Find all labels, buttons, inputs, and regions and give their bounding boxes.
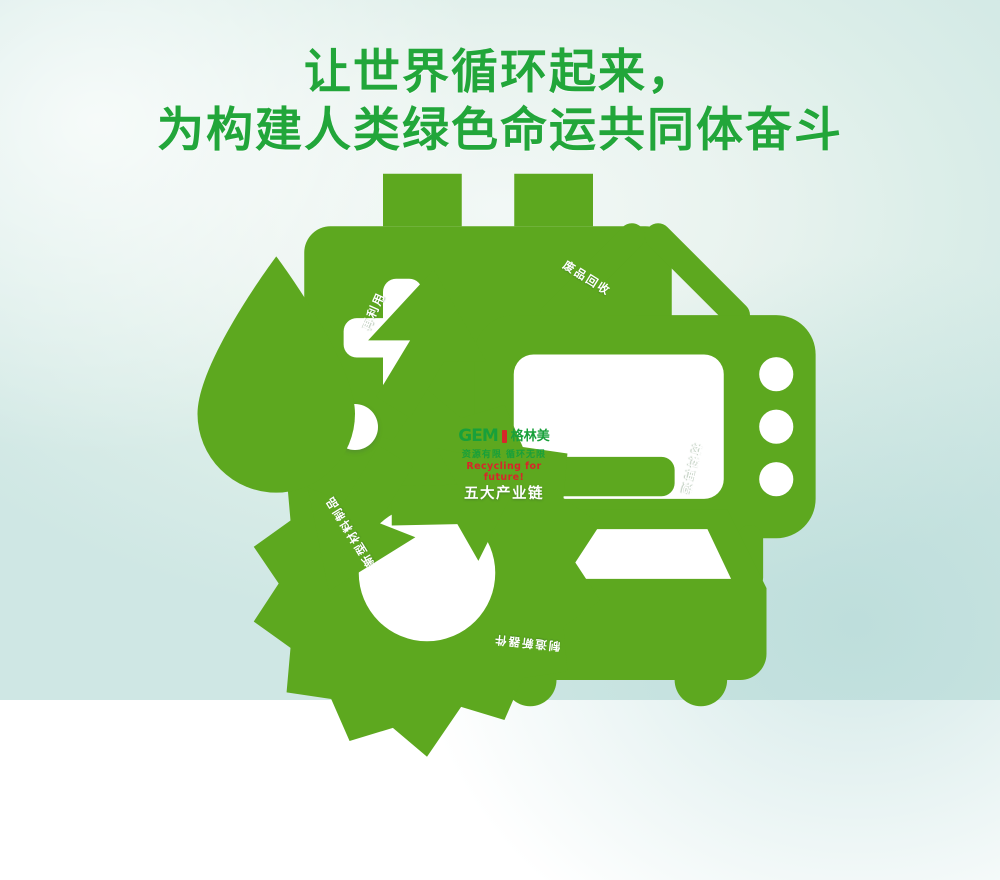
gem-logo: GEM 格林美 资源有限 循环无限 Recycling for future! <box>446 428 562 483</box>
infographic-canvas: 让世界循环起来， 为构建人类绿色命运共同体奋斗 <box>0 0 1000 700</box>
headline-line-2: 为构建人类绿色命运共同体奋斗 <box>0 102 1000 160</box>
logo-brand-row: GEM 格林美 <box>446 428 562 445</box>
logo-brand-latin: GEM <box>458 428 497 445</box>
center-title: 五大产业链 <box>446 482 562 503</box>
logo-brand-cn: 格林美 <box>511 430 550 443</box>
headline-line-1: 让世界循环起来， <box>0 44 1000 102</box>
logo-slogan-cn: 资源有限 循环无限 <box>446 447 562 460</box>
chain-icon-wastewater[interactable] <box>332 404 378 450</box>
page-title: 让世界循环起来， 为构建人类绿色命运共同体奋斗 <box>0 44 1000 161</box>
logo-red-mark <box>502 430 507 443</box>
logo-slogan-en: Recycling for future! <box>446 461 562 483</box>
water-recycle-icon <box>145 202 565 652</box>
